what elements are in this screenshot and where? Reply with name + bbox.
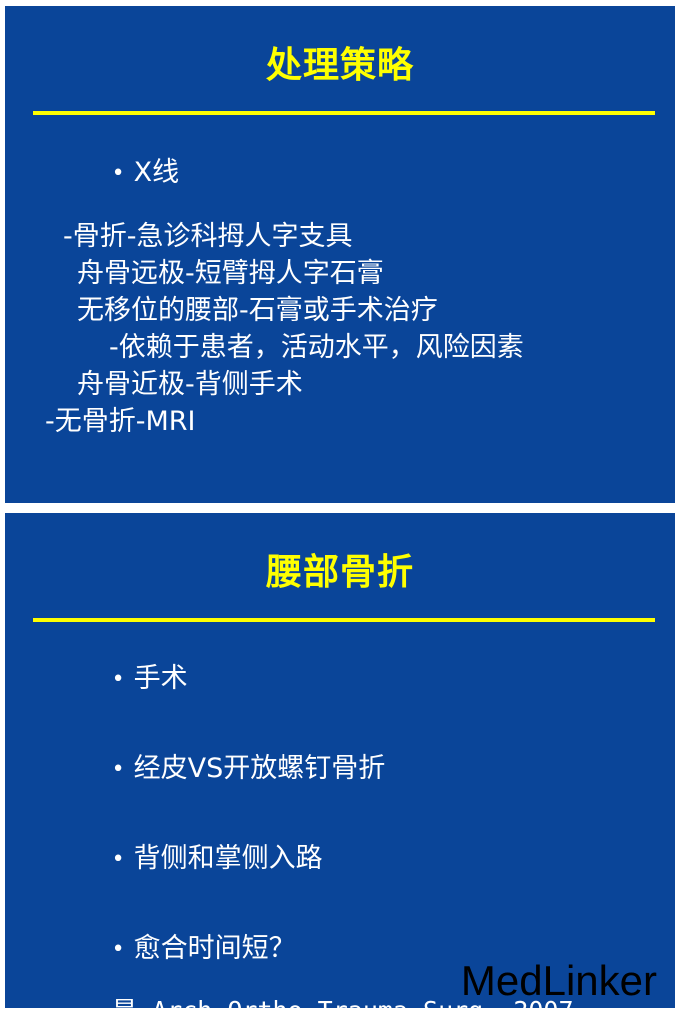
list-item-label: 手术: [134, 663, 188, 694]
list-item: 舟骨远极-短臂拇人字石膏: [5, 260, 675, 287]
slide-1-title: 处理策略: [5, 48, 675, 84]
list-item-label: X线: [134, 157, 180, 188]
list-item: -无骨折-MRI: [5, 408, 675, 435]
list-item: •X线: [5, 132, 675, 213]
bullet-icon: •: [112, 759, 134, 781]
slide-processing-strategy: 处理策略 •X线 -骨折-急诊科拇人字支具 舟骨远极-短臂拇人字石膏 无移位的腰…: [5, 6, 675, 503]
list-item: •经皮VS开放螺钉骨折: [5, 728, 675, 809]
slide-2-body: •手术 •经皮VS开放螺钉骨折 •背侧和掌侧入路 •愈合时间短？ -是 Arch…: [5, 638, 675, 1008]
list-item-label: 背侧和掌侧入路: [134, 843, 323, 874]
slide-2-title-rule: [33, 618, 655, 622]
slide-deck: 处理策略 •X线 -骨折-急诊科拇人字支具 舟骨远极-短臂拇人字石膏 无移位的腰…: [0, 0, 680, 1020]
medlinker-watermark: MedLinker: [461, 960, 657, 1002]
bullet-icon: •: [112, 669, 134, 691]
list-item: -依赖于患者，活动水平，风险因素: [5, 334, 675, 361]
slide-1-title-rule: [33, 111, 655, 115]
list-item: •手术: [5, 638, 675, 719]
bullet-icon: •: [112, 939, 134, 961]
list-item-label: 经皮VS开放螺钉骨折: [134, 753, 386, 784]
bullet-icon: •: [112, 849, 134, 871]
list-item: 无移位的腰部-石膏或手术治疗: [5, 297, 675, 324]
list-item: 舟骨近极-背侧手术: [5, 371, 675, 398]
slide-waist-fracture: 腰部骨折 •手术 •经皮VS开放螺钉骨折 •背侧和掌侧入路 •愈合时间短？ -是…: [5, 513, 675, 1008]
list-item: •背侧和掌侧入路: [5, 818, 675, 899]
slide-1-body: •X线 -骨折-急诊科拇人字支具 舟骨远极-短臂拇人字石膏 无移位的腰部-石膏或…: [5, 132, 675, 445]
list-item-label: 愈合时间短？: [134, 933, 296, 964]
list-item: -骨折-急诊科拇人字支具: [5, 223, 675, 250]
bullet-icon: •: [112, 163, 134, 185]
slide-2-title: 腰部骨折: [5, 555, 675, 591]
